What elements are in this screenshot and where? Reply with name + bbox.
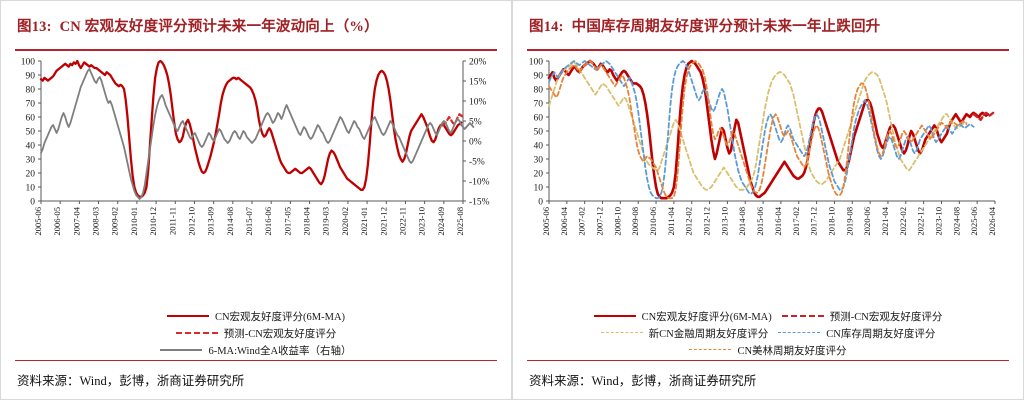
svg-text:80: 80 <box>26 85 36 95</box>
svg-text:60: 60 <box>26 113 36 123</box>
svg-text:40: 40 <box>534 141 544 151</box>
svg-text:2015-07: 2015-07 <box>244 206 254 235</box>
legend-item[interactable]: 预测-CN宏观友好度评分 <box>782 309 943 324</box>
legend-label: 6-MA:Wind全A收益率（右轴） <box>208 343 351 358</box>
svg-text:2024-08: 2024-08 <box>951 207 961 236</box>
figure-title-13: 图13:CN 宏观友好度评分预计未来一年波动向上（%） <box>17 15 495 36</box>
figure-caption-14: 中国库存周期友好度评分预计未来一年止跌回升 <box>572 19 881 35</box>
svg-text:60: 60 <box>534 113 544 123</box>
svg-text:2020-02: 2020-02 <box>340 207 350 236</box>
svg-text:2005-06: 2005-06 <box>33 206 43 235</box>
legend-row: CN宏观友好度评分(6M-MA)预测-CN宏观友好度评分 <box>523 309 1013 324</box>
svg-text:0: 0 <box>30 197 35 207</box>
svg-text:2022-12: 2022-12 <box>916 207 926 236</box>
svg-text:2012-02: 2012-02 <box>684 207 694 236</box>
legend-item[interactable]: CN宏观友好度评分(6M-MA) <box>167 309 345 324</box>
figure-number-14: 图14: <box>529 19 564 35</box>
svg-text:5%: 5% <box>469 117 482 127</box>
svg-text:20: 20 <box>26 169 36 179</box>
svg-text:2006-05: 2006-05 <box>52 207 62 236</box>
legend-label: CN美林周期友好度评分 <box>737 343 846 358</box>
svg-text:2026-04: 2026-04 <box>987 206 997 235</box>
panel-header-14: 图14:中国库存周期友好度评分预计未来一年止跌回升 <box>513 1 1023 42</box>
figure-panel-14: 图14:中国库存周期友好度评分预计未来一年止跌回升 01020304050607… <box>512 0 1024 400</box>
source-note-14: 资料来源：Wind，彭博，浙商证券研究所 <box>513 361 1023 399</box>
svg-text:2019-03: 2019-03 <box>321 207 331 236</box>
svg-text:2016-04: 2016-04 <box>773 206 783 235</box>
chart-13: 0102030405060708090100-15%-10%-5%0%5%10%… <box>1 51 511 307</box>
svg-text:2013-10: 2013-10 <box>719 207 729 236</box>
svg-text:2009-02: 2009-02 <box>110 207 120 236</box>
legend-item[interactable]: 6-MA:Wind全A收益率（右轴） <box>160 343 351 358</box>
svg-text:2021-01: 2021-01 <box>359 207 369 236</box>
legend-item[interactable]: CN宏观友好度评分(6M-MA) <box>594 309 772 324</box>
svg-text:2010-01: 2010-01 <box>129 207 139 236</box>
svg-text:2013-09: 2013-09 <box>206 207 216 236</box>
svg-text:100: 100 <box>529 57 544 67</box>
chart-svg-14: 01020304050607080901002005-062006-042007… <box>513 51 1023 276</box>
legend-row: CN美林周期友好度评分 <box>523 343 1013 358</box>
svg-text:2019-08: 2019-08 <box>844 207 854 236</box>
svg-text:2014-08: 2014-08 <box>737 207 747 236</box>
svg-text:2020-06: 2020-06 <box>862 206 872 235</box>
svg-text:2018-04: 2018-04 <box>302 206 312 235</box>
svg-text:2025-06: 2025-06 <box>969 206 979 235</box>
svg-text:2008-10: 2008-10 <box>612 207 622 236</box>
svg-text:2021-04: 2021-04 <box>880 206 890 235</box>
legend-label: CN宏观友好度评分(6M-MA) <box>215 309 345 324</box>
source-note-13: 资料来源：Wind，彭博，浙商证券研究所 <box>1 361 511 399</box>
svg-text:10: 10 <box>534 183 544 193</box>
svg-text:2010-12: 2010-12 <box>148 207 158 236</box>
svg-text:2022-11: 2022-11 <box>398 207 408 235</box>
svg-text:2011-11: 2011-11 <box>167 207 177 235</box>
svg-text:80: 80 <box>534 85 544 95</box>
svg-text:2012-10: 2012-10 <box>187 207 197 236</box>
svg-text:30: 30 <box>534 155 544 165</box>
legend-row: 预测-CN宏观友好度评分 <box>11 326 501 341</box>
svg-text:2023-10: 2023-10 <box>934 207 944 236</box>
svg-text:10%: 10% <box>469 97 487 107</box>
figure-title-14: 图14:中国库存周期友好度评分预计未来一年止跌回升 <box>529 15 1007 36</box>
legend-row: CN宏观友好度评分(6M-MA) <box>11 309 501 324</box>
svg-text:2007-02: 2007-02 <box>577 207 587 236</box>
legend-item[interactable]: 新CN金融周期友好度评分 <box>601 326 769 341</box>
legend-label: 预测-CN宏观友好度评分 <box>830 309 943 324</box>
figure-caption-13: CN 宏观友好度评分预计未来一年波动向上（%） <box>60 19 379 35</box>
svg-text:20%: 20% <box>469 57 487 67</box>
chart-legend-13: CN宏观友好度评分(6M-MA)预测-CN宏观友好度评分6-MA:Wind全A收… <box>1 307 511 360</box>
legend-label: 新CN金融周期友好度评分 <box>649 326 769 341</box>
svg-text:100: 100 <box>21 57 36 67</box>
svg-text:70: 70 <box>26 99 36 109</box>
legend-label: CN宏观友好度评分(6M-MA) <box>642 309 772 324</box>
svg-text:2015-06: 2015-06 <box>755 206 765 235</box>
svg-text:2010-06: 2010-06 <box>648 206 658 235</box>
svg-text:50: 50 <box>534 127 544 137</box>
svg-text:2007-12: 2007-12 <box>595 207 605 236</box>
svg-text:2025-08: 2025-08 <box>455 207 465 236</box>
svg-text:2014-08: 2014-08 <box>225 207 235 236</box>
chart-svg-13: 0102030405060708090100-15%-10%-5%0%5%10%… <box>1 51 511 276</box>
svg-text:40: 40 <box>26 141 36 151</box>
legend-item[interactable]: CN美林周期友好度评分 <box>689 343 846 358</box>
svg-text:2012-12: 2012-12 <box>702 207 712 236</box>
svg-text:2007-04: 2007-04 <box>71 206 81 235</box>
svg-text:0: 0 <box>538 197 543 207</box>
panel-header-13: 图13:CN 宏观友好度评分预计未来一年波动向上（%） <box>1 1 511 42</box>
svg-text:2017-05: 2017-05 <box>282 207 292 236</box>
svg-text:30: 30 <box>26 155 36 165</box>
svg-text:2008-03: 2008-03 <box>91 207 101 236</box>
svg-text:-10%: -10% <box>469 177 490 187</box>
svg-text:2017-12: 2017-12 <box>809 207 819 236</box>
legend-row: 新CN金融周期友好度评分CN库存周期友好度评分 <box>523 326 1013 341</box>
figure-panel-13: 图13:CN 宏观友好度评分预计未来一年波动向上（%） 010203040506… <box>0 0 512 400</box>
figure-number-13: 图13: <box>17 19 52 35</box>
legend-item[interactable]: CN库存周期友好度评分 <box>778 326 935 341</box>
svg-text:2024-09: 2024-09 <box>436 207 446 236</box>
svg-text:2018-10: 2018-10 <box>826 207 836 236</box>
svg-text:2022-02: 2022-02 <box>898 207 908 236</box>
legend-row: 6-MA:Wind全A收益率（右轴） <box>11 343 501 358</box>
svg-text:-15%: -15% <box>469 197 490 207</box>
svg-text:2005-06: 2005-06 <box>541 206 551 235</box>
svg-text:2023-10: 2023-10 <box>417 207 427 236</box>
svg-text:90: 90 <box>534 71 544 81</box>
svg-text:-5%: -5% <box>469 157 485 167</box>
svg-text:70: 70 <box>534 99 544 109</box>
chart-14: 01020304050607080901002005-062006-042007… <box>513 51 1023 307</box>
svg-text:2009-08: 2009-08 <box>630 207 640 236</box>
svg-text:2017-02: 2017-02 <box>791 207 801 236</box>
legend-label: CN库存周期友好度评分 <box>826 326 935 341</box>
svg-text:2011-04: 2011-04 <box>666 206 676 235</box>
svg-text:20: 20 <box>534 169 544 179</box>
legend-item[interactable]: 预测-CN宏观友好度评分 <box>176 326 337 341</box>
svg-text:10: 10 <box>26 183 36 193</box>
svg-text:15%: 15% <box>469 77 487 87</box>
svg-text:0%: 0% <box>469 137 482 147</box>
legend-label: 预测-CN宏观友好度评分 <box>224 326 337 341</box>
svg-text:2016-06: 2016-06 <box>263 206 273 235</box>
figures-page: 图13:CN 宏观友好度评分预计未来一年波动向上（%） 010203040506… <box>0 0 1024 400</box>
svg-text:50: 50 <box>26 127 36 137</box>
chart-legend-14: CN宏观友好度评分(6M-MA)预测-CN宏观友好度评分新CN金融周期友好度评分… <box>513 307 1023 360</box>
svg-text:2021-12: 2021-12 <box>378 207 388 236</box>
svg-text:90: 90 <box>26 71 36 81</box>
svg-text:2006-04: 2006-04 <box>559 206 569 235</box>
